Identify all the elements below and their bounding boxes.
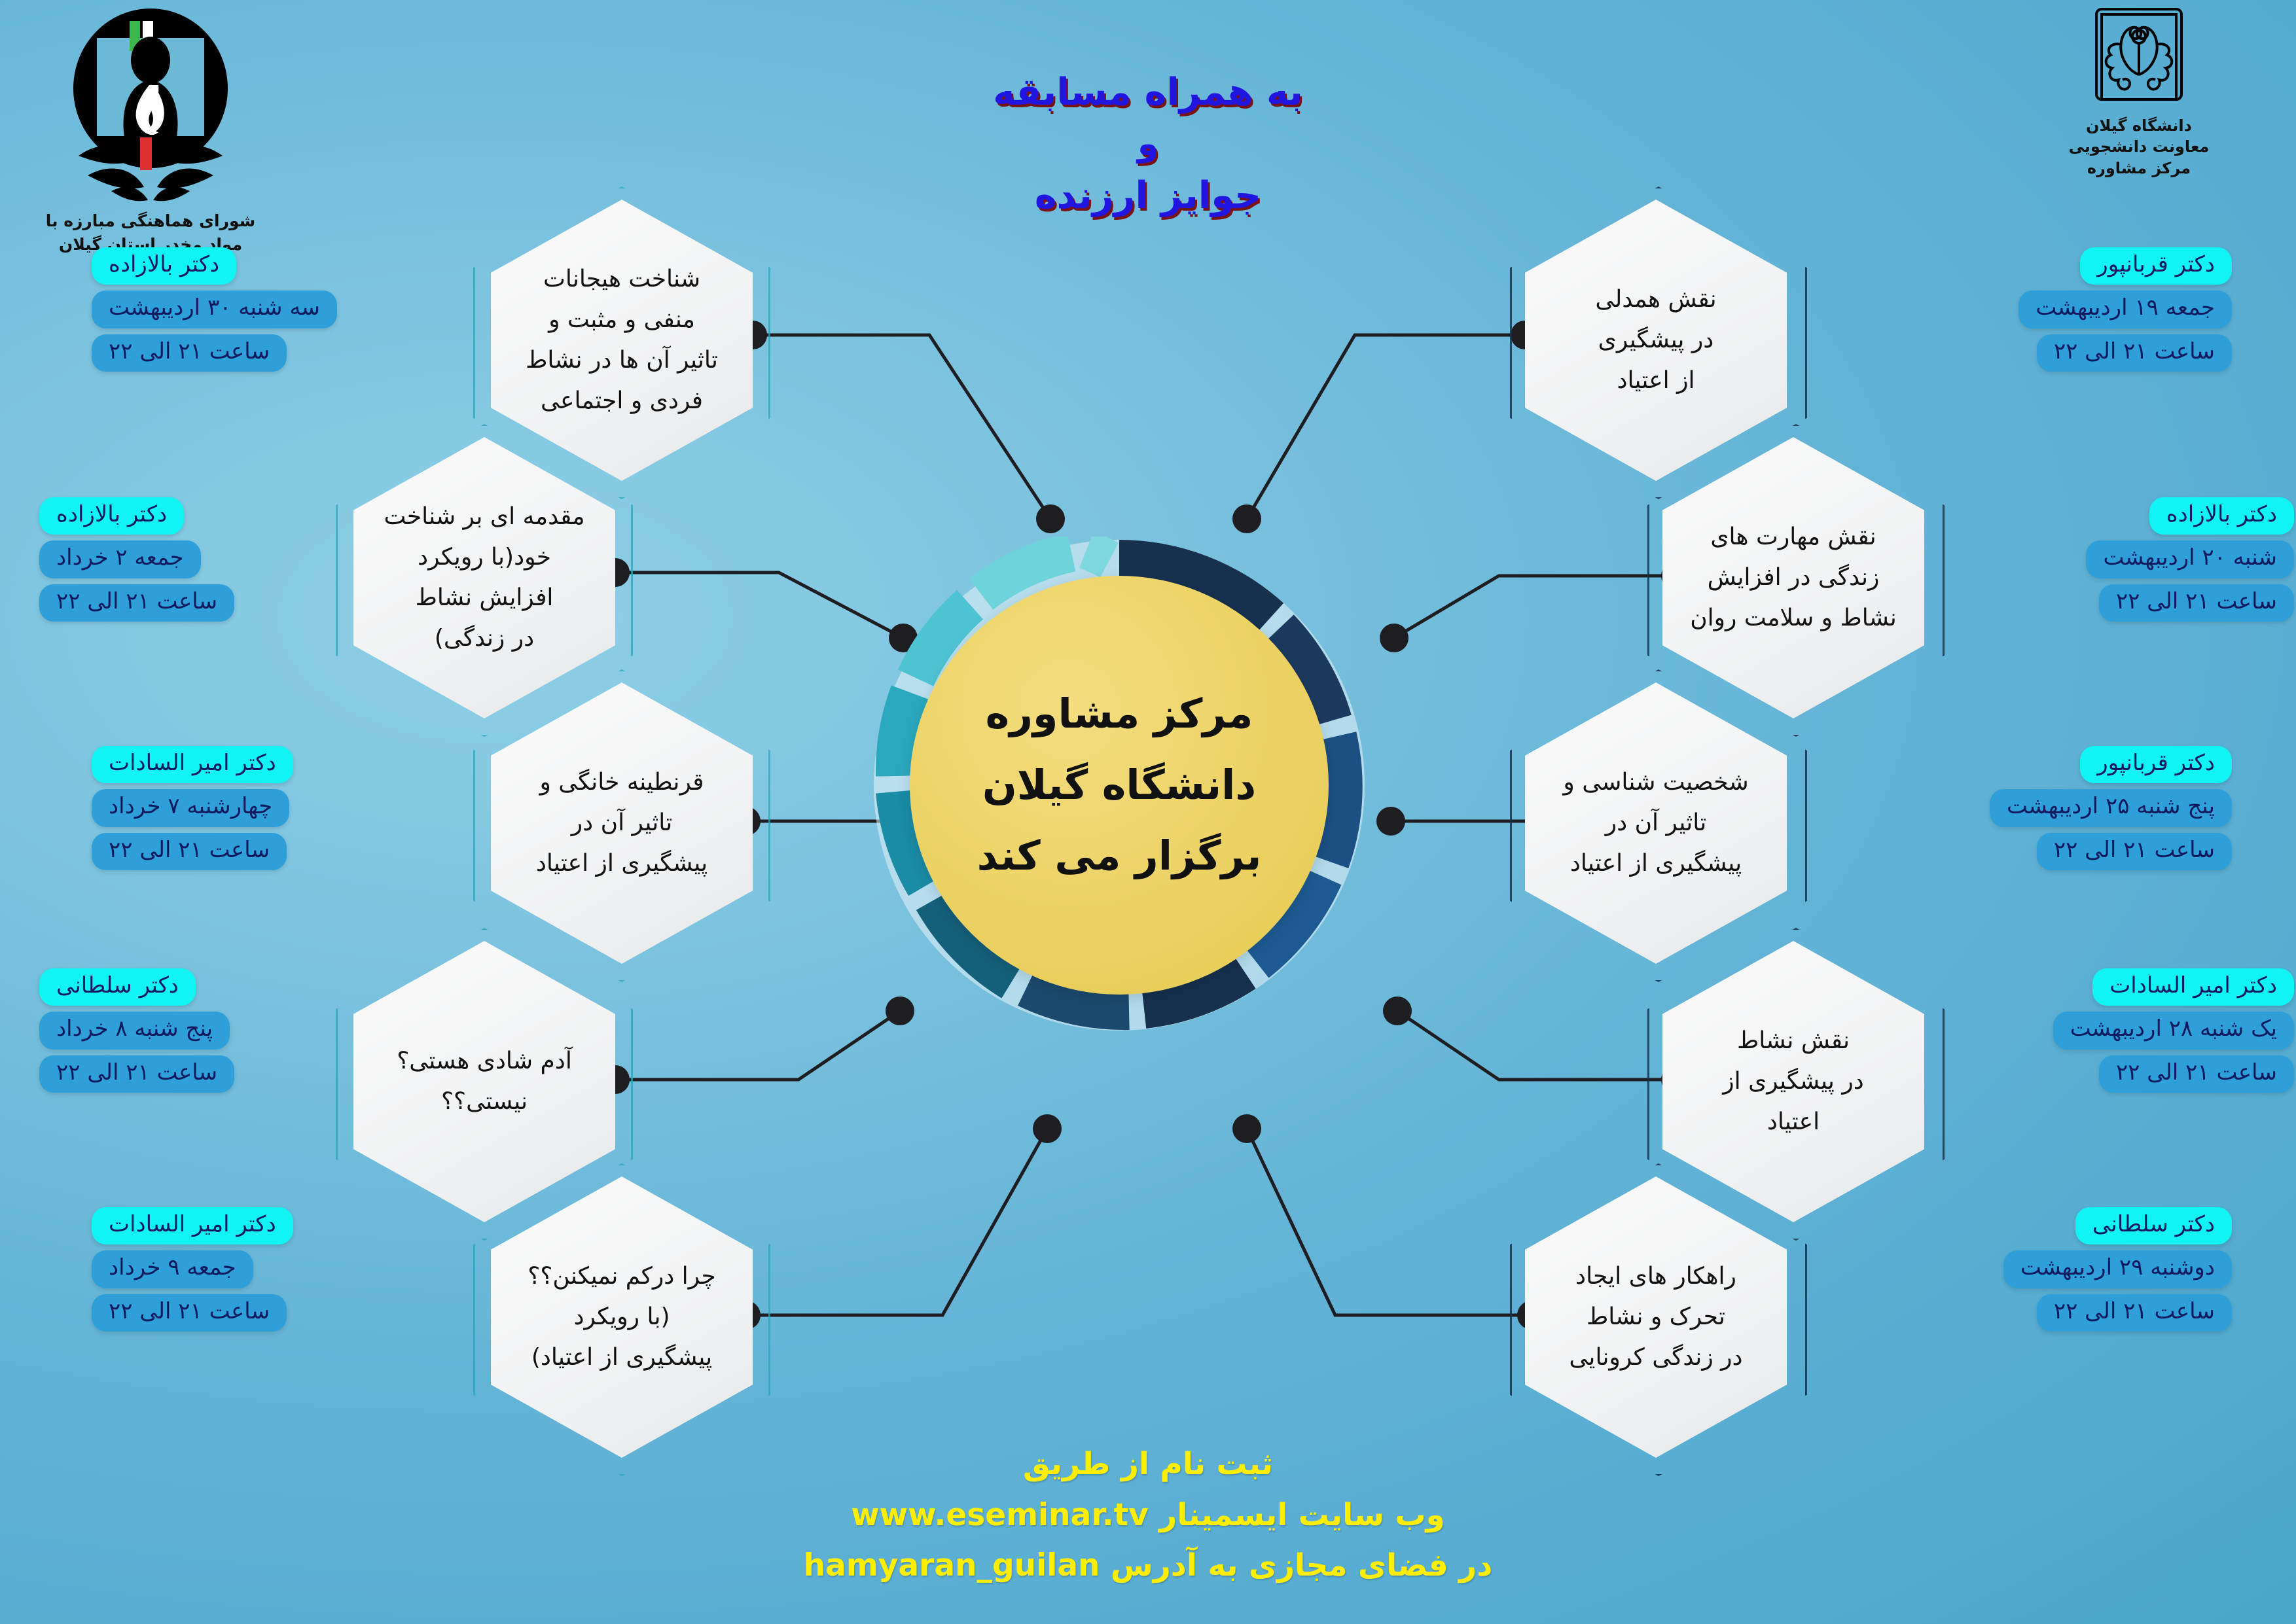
- hex-line: اعتیاد: [1723, 1102, 1863, 1142]
- hex-line: قرنطینه خانگی و: [536, 762, 708, 803]
- date-badge[interactable]: شنبه ۲۰ اردیبهشت: [2086, 540, 2294, 578]
- hex-line: خود(با رویکرد: [384, 537, 585, 578]
- social-handle[interactable]: hamyaran_guilan: [804, 1540, 1100, 1591]
- speaker-badge[interactable]: دکتر امیر السادات: [92, 1207, 293, 1244]
- hex-line: تاثیر آن ها در نشاط: [526, 340, 718, 381]
- hex-line: آدم شادی هستی؟: [397, 1041, 572, 1082]
- hex-line: راهکار های ایجاد: [1569, 1256, 1742, 1297]
- time-badge[interactable]: ساعت ۲۱ الی ۲۲: [92, 1294, 287, 1332]
- session-labels-left-3: دکتر امیر السادات چهارشنبه ۷ خرداد ساعت …: [92, 746, 458, 870]
- session-labels-right-1: دکتر قربانپور جمعه ۱۹ اردیبهشت ساعت ۲۱ ا…: [1826, 247, 2232, 372]
- speaker-badge[interactable]: دکتر قربانپور: [2080, 247, 2232, 285]
- footer-line-2-label: وب سایت ایسمینار: [1159, 1497, 1445, 1533]
- guilan-university-emblem-icon: [2090, 5, 2188, 110]
- university-of-guilan-logo: دانشگاه گیلان معاونت دانشجویی مرکز مشاور…: [2008, 5, 2270, 179]
- session-labels-right-4: دکتر امیر السادات یک شنبه ۲۸ اردیبهشت سا…: [1954, 968, 2294, 1093]
- time-badge[interactable]: ساعت ۲۱ الی ۲۲: [39, 1055, 234, 1093]
- center-title-disc: مرکز مشاوره دانشگاه گیلان برگزار می کند: [910, 576, 1329, 995]
- speaker-badge[interactable]: دکتر بالازاده: [2149, 497, 2294, 535]
- date-badge[interactable]: چهارشنبه ۷ خرداد: [92, 789, 289, 826]
- hex-line: منفی و مثبت و: [526, 300, 718, 340]
- session-labels-left-4: دکتر سلطانی پنج شنبه ۸ خرداد ساعت ۲۱ الی…: [39, 968, 327, 1093]
- hex-line: نقش نشاط: [1723, 1021, 1863, 1061]
- hex-line: فردی و اجتماعی: [526, 381, 718, 421]
- time-badge[interactable]: ساعت ۲۱ الی ۲۲: [92, 833, 287, 870]
- center-line-2: دانشگاه گیلان: [977, 750, 1262, 821]
- speaker-badge[interactable]: دکتر قربانپور: [2080, 746, 2232, 783]
- slogan-line-3: جوایز ارزنده: [0, 169, 2296, 223]
- time-badge[interactable]: ساعت ۲۱ الی ۲۲: [2099, 1055, 2294, 1093]
- hex-line: در زندگی): [384, 618, 585, 659]
- hex-line: پیشگیری از اعتیاد: [1563, 843, 1748, 884]
- eseminar-url-link[interactable]: www.eseminar.tv: [851, 1490, 1149, 1541]
- headline-slogan: به همراه مسابقه و جوایز ارزنده: [0, 65, 2296, 223]
- hex-line: پیشگیری از اعتیاد): [528, 1337, 716, 1378]
- footer-line-2: وب سایت ایسمینار www.eseminar.tv: [0, 1490, 2296, 1541]
- date-badge[interactable]: جمعه ۱۹ اردیبهشت: [2018, 291, 2232, 328]
- torch-emblem-icon: [65, 7, 236, 203]
- hex-line: شخصیت شناسی و: [1563, 762, 1748, 803]
- hex-line: پیشگیری از اعتیاد: [536, 843, 708, 884]
- footer-line-3: در فضای مجازی به آدرس hamyaran_guilan: [0, 1540, 2296, 1591]
- session-labels-left-1: دکتر بالازاده سه شنبه ۳۰ اردیبهشت ساعت ۲…: [92, 247, 458, 372]
- speaker-badge[interactable]: دکتر امیر السادات: [2092, 968, 2294, 1006]
- hex-line: نقش مهارت های: [1690, 517, 1897, 557]
- hex-line: در پیشگیری: [1595, 320, 1716, 361]
- hex-line: تاثیر آن در: [1563, 803, 1748, 843]
- date-badge[interactable]: یک شنبه ۲۸ اردیبهشت: [2053, 1012, 2294, 1049]
- hex-line: تاثیر آن در: [536, 803, 708, 843]
- left-logo-caption-line1: شورای هماهنگی مبارزه با: [39, 209, 262, 233]
- session-labels-left-2: دکتر بالازاده جمعه ۲ خرداد ساعت ۲۱ الی ۲…: [39, 497, 327, 622]
- date-badge[interactable]: پنج شنبه ۲۵ اردیبهشت: [1990, 789, 2232, 826]
- time-badge[interactable]: ساعت ۲۱ الی ۲۲: [2037, 1294, 2232, 1332]
- speaker-badge[interactable]: دکتر امیر السادات: [92, 746, 293, 783]
- slogan-line-1: به همراه مسابقه: [0, 65, 2296, 120]
- session-labels-right-2: دکتر بالازاده شنبه ۲۰ اردیبهشت ساعت ۲۱ ا…: [1954, 497, 2294, 622]
- poster-canvas: شورای هماهنگی مبارزه با مواد مخدر استان …: [0, 0, 2296, 1624]
- hex-line: نشاط و سلامت روان: [1690, 598, 1897, 639]
- slogan-line-2: و: [0, 120, 2296, 169]
- date-badge[interactable]: پنج شنبه ۸ خرداد: [39, 1012, 230, 1049]
- right-logo-caption-line2: معاونت دانشجویی: [2008, 136, 2270, 157]
- right-logo-caption-line1: دانشگاه گیلان: [2008, 115, 2270, 136]
- speaker-badge[interactable]: دکتر سلطانی: [2075, 1207, 2232, 1244]
- date-badge[interactable]: جمعه ۹ خرداد: [92, 1250, 253, 1288]
- hex-line: در پیشگیری از: [1723, 1061, 1863, 1102]
- anti-drugs-council-logo: شورای هماهنگی مبارزه با مواد مخدر استان …: [39, 7, 262, 257]
- hex-line: نقش همدلی: [1595, 279, 1716, 320]
- hex-line: از اعتیاد: [1595, 361, 1716, 401]
- center-line-1: مرکز مشاوره: [977, 679, 1262, 750]
- session-labels-left-5: دکتر امیر السادات جمعه ۹ خرداد ساعت ۲۱ ا…: [92, 1207, 458, 1332]
- hex-line: افزایش نشاط: [384, 578, 585, 618]
- session-labels-right-5: دکتر سلطانی دوشنبه ۲۹ اردیبهشت ساعت ۲۱ ا…: [1826, 1207, 2232, 1332]
- time-badge[interactable]: ساعت ۲۱ الی ۲۲: [39, 584, 234, 622]
- date-badge[interactable]: سه شنبه ۳۰ اردیبهشت: [92, 291, 337, 328]
- time-badge[interactable]: ساعت ۲۱ الی ۲۲: [92, 334, 287, 372]
- center-hub: مرکز مشاوره دانشگاه گیلان برگزار می کند: [870, 537, 1368, 1034]
- date-badge[interactable]: جمعه ۲ خرداد: [39, 540, 201, 578]
- right-logo-caption-line3: مرکز مشاوره: [2008, 158, 2270, 179]
- hex-line: نیستی؟؟: [397, 1082, 572, 1122]
- speaker-badge[interactable]: دکتر سلطانی: [39, 968, 196, 1006]
- center-line-3: برگزار می کند: [977, 821, 1262, 892]
- speaker-badge[interactable]: دکتر بالازاده: [92, 247, 236, 285]
- hex-line: (با رویکرد: [528, 1297, 716, 1337]
- hex-line: شناخت هیجانات: [526, 259, 718, 300]
- footer-line-1: ثبت نام از طریق: [0, 1439, 2296, 1490]
- date-badge[interactable]: دوشنبه ۲۹ اردیبهشت: [2003, 1250, 2232, 1288]
- hex-line: تحرک و نشاط: [1569, 1297, 1742, 1337]
- hex-line: زندگی در افزایش: [1690, 557, 1897, 598]
- registration-footer: ثبت نام از طریق وب سایت ایسمینار www.ese…: [0, 1439, 2296, 1591]
- hex-line: چرا درکم نمیکنن؟؟: [528, 1256, 716, 1297]
- hex-line: در زندگی کرونایی: [1569, 1337, 1742, 1378]
- time-badge[interactable]: ساعت ۲۱ الی ۲۲: [2099, 584, 2294, 622]
- speaker-badge[interactable]: دکتر بالازاده: [39, 497, 184, 535]
- footer-line-3-label: در فضای مجازی به آدرس: [1111, 1547, 1492, 1583]
- session-labels-right-3: دکتر قربانپور پنج شنبه ۲۵ اردیبهشت ساعت …: [1826, 746, 2232, 870]
- time-badge[interactable]: ساعت ۲۱ الی ۲۲: [2037, 833, 2232, 870]
- hex-line: مقدمه ای بر شناخت: [384, 497, 585, 537]
- time-badge[interactable]: ساعت ۲۱ الی ۲۲: [2037, 334, 2232, 372]
